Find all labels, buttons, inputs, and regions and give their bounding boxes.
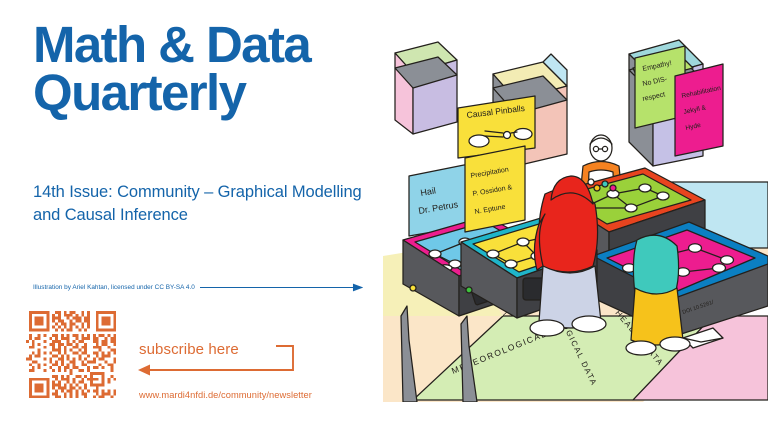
illustration-credit: Illustration by Ariel Kahtan, licensed u…: [33, 283, 363, 292]
arrow-right-icon: [200, 283, 363, 292]
left-text-column: Math & Data Quarterly 14th Issue: Commun…: [0, 0, 383, 431]
player-left-shoe: [530, 320, 564, 336]
red-hoodie-body: [539, 189, 598, 272]
machine-hail-button[interactable]: [410, 285, 416, 291]
player-right-shoe: [572, 316, 606, 332]
teal-player-right-shoe: [660, 337, 690, 351]
subscribe-label: subscribe here: [139, 341, 239, 358]
qr-code-icon[interactable]: [26, 308, 122, 404]
qr-code-svg[interactable]: [26, 308, 122, 404]
machine-precip-button[interactable]: [466, 287, 472, 293]
newsletter-link[interactable]: www.mardi4nfdi.de/community/newsletter: [139, 390, 312, 400]
newsletter-poster: Math & Data Quarterly 14th Issue: Commun…: [0, 0, 768, 431]
teal-player-left-shoe: [626, 341, 656, 355]
teal-top: [633, 235, 678, 299]
illustration-image: .ln { stroke:#23201c; stroke-width:1.25;…: [383, 16, 768, 402]
causal-pinball-arcade-illustration: .ln { stroke:#23201c; stroke-width:1.25;…: [383, 16, 768, 402]
page-title: Math & Data Quarterly: [33, 21, 310, 118]
credit-text: Illustration by Ariel Kahtan, licensed u…: [33, 284, 195, 291]
issue-subtitle: 14th Issue: Community – Graphical Modell…: [33, 181, 363, 228]
